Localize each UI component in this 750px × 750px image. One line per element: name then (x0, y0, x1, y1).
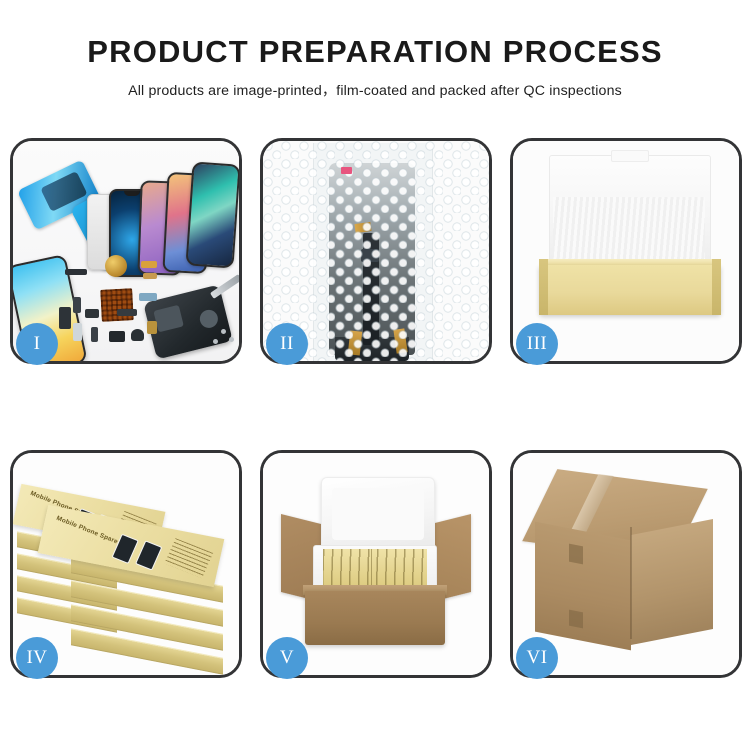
stacked-kraft-boxes-inside (323, 549, 427, 587)
kraft-box-tray (539, 265, 721, 315)
page-title: PRODUCT PREPARATION PROCESS (0, 0, 750, 69)
step-panel-foam-carton[interactable]: V (260, 450, 492, 678)
spare-part (131, 329, 144, 341)
foam-box-lid (321, 477, 435, 553)
copper-mesh-part (100, 288, 134, 322)
screw-part (213, 339, 218, 344)
box-tray-side-left (539, 259, 548, 315)
spare-part (85, 309, 99, 318)
step-badge-3: III (516, 323, 558, 365)
spare-part (117, 309, 137, 316)
step-panel-bubble-wrap[interactable]: II (260, 138, 492, 364)
step-badge-1: I (16, 323, 58, 365)
steps-grid: I II (10, 138, 742, 683)
step-badge-4: IV (16, 637, 58, 679)
spare-part (139, 293, 157, 301)
box-tray-side-right (712, 259, 721, 315)
spare-part (65, 269, 87, 275)
product-preparation-infographic: PRODUCT PREPARATION PROCESS All products… (0, 0, 750, 750)
carton-corner-seam (630, 527, 632, 639)
carton-tab (569, 610, 583, 629)
pink-label-tab (341, 167, 352, 174)
box-lid-thumbnail (135, 540, 162, 570)
spare-part (73, 323, 82, 341)
step-badge-6: VI (516, 637, 558, 679)
page-subtitle: All products are image-printed，film-coat… (0, 69, 750, 100)
spare-part (59, 307, 71, 329)
screw-part (221, 329, 226, 334)
box-lid-spec-lines (164, 538, 213, 578)
step-panel-inner-box[interactable]: III (510, 138, 742, 364)
carton-front-face (535, 522, 631, 651)
carton-tab (569, 544, 583, 565)
step-panel-products[interactable]: I (10, 138, 242, 364)
spare-part (147, 321, 157, 334)
speaker-coil-part (105, 255, 127, 277)
step-panel-sealed-carton[interactable]: VI (510, 450, 742, 678)
spare-part (91, 327, 98, 342)
step-badge-2: II (266, 323, 308, 365)
carton-side-face (631, 519, 713, 645)
spare-part (73, 297, 81, 313)
carton-front-panel (305, 591, 445, 645)
header: PRODUCT PREPARATION PROCESS All products… (0, 0, 750, 100)
step-panel-stacked-boxes[interactable]: Mobile Phone Spare Parts Mobile Pho (10, 450, 242, 678)
step-badge-5: V (266, 637, 308, 679)
spare-part (109, 331, 125, 342)
spare-part (143, 273, 157, 279)
spare-part (141, 261, 157, 268)
phone-screen-teal (185, 161, 239, 268)
screw-part (229, 337, 234, 342)
